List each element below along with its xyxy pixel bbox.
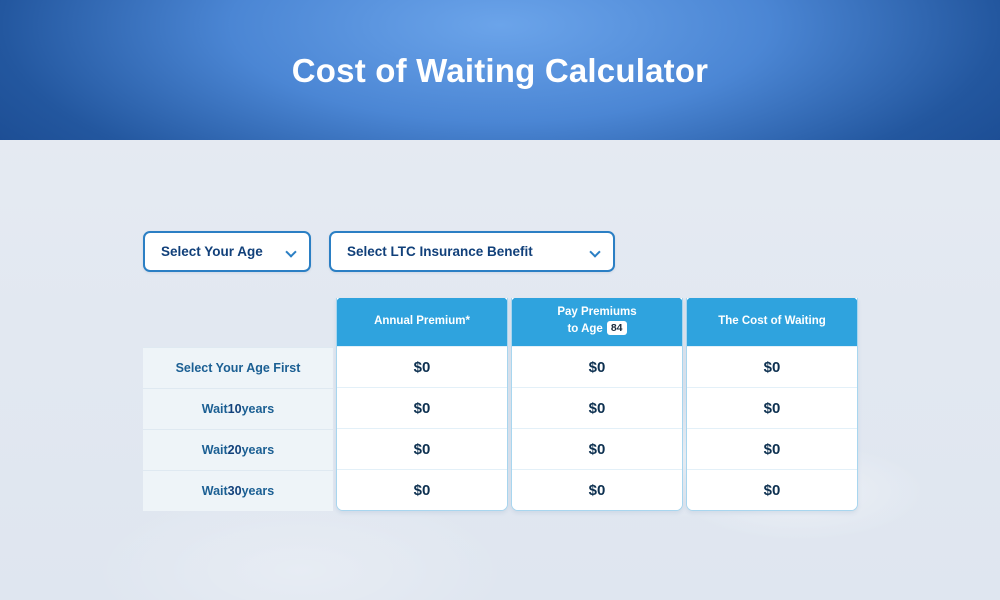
row-label-suffix: years — [242, 484, 275, 498]
column-pay-premiums-to-age: Pay Premiums to Age84 $0 $0 $0 $0 — [511, 298, 683, 511]
page-title: Cost of Waiting Calculator — [292, 54, 708, 87]
table-cell: $0 — [337, 346, 507, 387]
benefit-select-label: Select LTC Insurance Benefit — [347, 244, 533, 259]
column-header-text: Annual Premium* — [374, 314, 470, 330]
table-cell: $0 — [687, 387, 857, 428]
cost-of-waiting-table: Select Your Age First Wait 10 years Wait… — [143, 298, 853, 511]
chevron-down-icon — [591, 247, 600, 256]
row-label-suffix: years — [242, 402, 275, 416]
table-row-label: Wait 20 years — [143, 429, 333, 470]
table-cell: $0 — [512, 387, 682, 428]
table-cell: $0 — [337, 469, 507, 510]
age-select-label: Select Your Age — [161, 244, 263, 259]
column-header-text: The Cost of Waiting — [718, 314, 826, 330]
column-cost-of-waiting: The Cost of Waiting $0 $0 $0 $0 — [686, 298, 858, 511]
table-cell: $0 — [512, 469, 682, 510]
column-header-annual-premium: Annual Premium* — [336, 298, 508, 346]
column-annual-premium: Annual Premium* $0 $0 $0 $0 — [336, 298, 508, 511]
table-cell: $0 — [687, 346, 857, 387]
column-header-pay-premiums: Pay Premiums to Age84 — [511, 298, 683, 346]
table-row-label: Wait 30 years — [143, 470, 333, 511]
row-label-years: 20 — [228, 443, 242, 457]
table-row-label: Wait 10 years — [143, 388, 333, 429]
column-header-cost-of-waiting: The Cost of Waiting — [686, 298, 858, 346]
row-label-prefix: Wait — [202, 484, 228, 498]
column-header-line2: to Age — [567, 323, 602, 335]
age-select-dropdown[interactable]: Select Your Age — [143, 231, 311, 272]
table-label-column: Select Your Age First Wait 10 years Wait… — [143, 298, 333, 511]
table-cell: $0 — [337, 428, 507, 469]
row-label-prefix: Wait — [202, 443, 228, 457]
table-cell: $0 — [687, 469, 857, 510]
column-header-line1: Pay Premiums — [557, 305, 636, 321]
selector-row: Select Your Age Select LTC Insurance Ben… — [143, 231, 615, 272]
table-cell: $0 — [687, 428, 857, 469]
table-cell: $0 — [337, 387, 507, 428]
table-cell: $0 — [512, 346, 682, 387]
row-label-years: 10 — [228, 402, 242, 416]
benefit-select-dropdown[interactable]: Select LTC Insurance Benefit — [329, 231, 615, 272]
row-label-prefix: Wait — [202, 402, 228, 416]
table-cell: $0 — [512, 428, 682, 469]
row-label-years: 30 — [228, 484, 242, 498]
row-label-suffix: years — [242, 443, 275, 457]
main-content: Select Your Age Select LTC Insurance Ben… — [0, 140, 1000, 600]
age-badge: 84 — [607, 321, 627, 335]
table-corner-header — [143, 298, 333, 347]
chevron-down-icon — [287, 247, 296, 256]
row-label-text: Select Your Age First — [176, 361, 301, 375]
page-header-banner: Cost of Waiting Calculator — [0, 0, 1000, 140]
table-row-label: Select Your Age First — [143, 347, 333, 388]
